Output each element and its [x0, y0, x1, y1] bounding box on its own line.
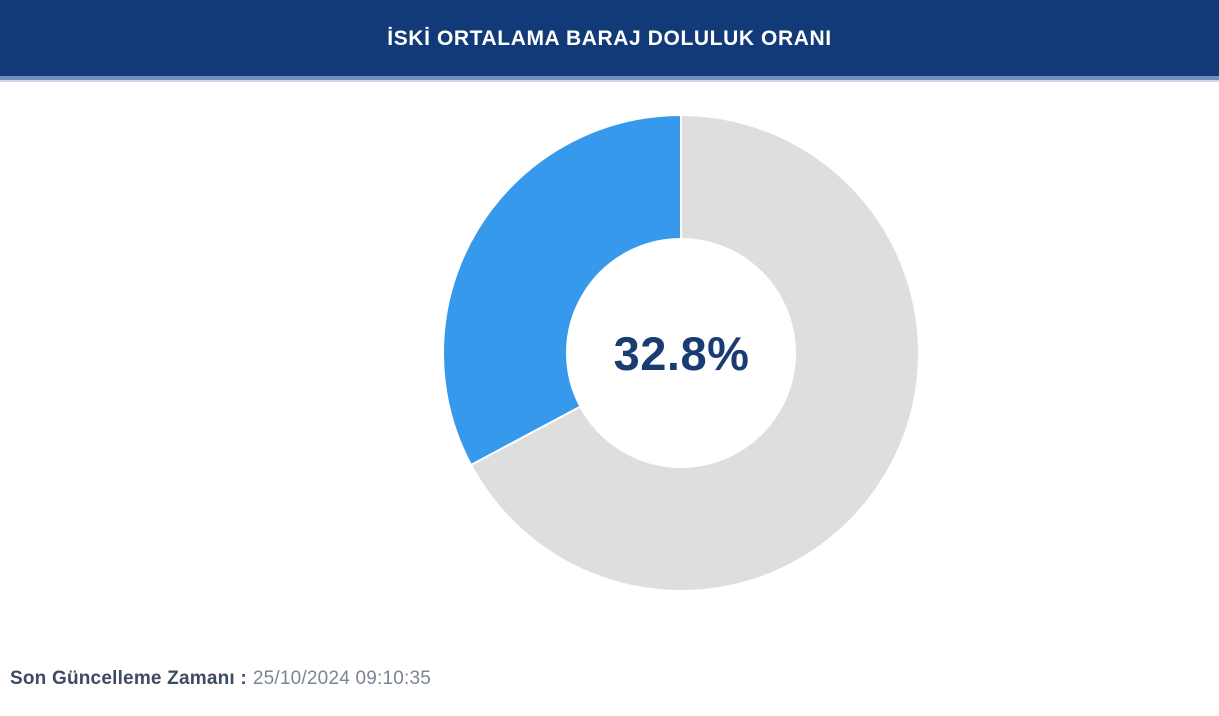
last-update-value: 25/10/2024 09:10:35 — [247, 668, 431, 690]
last-update-status: Son Güncelleme Zamanı : 25/10/2024 09:10… — [10, 668, 431, 690]
chart-area: 32.8% — [0, 82, 1219, 642]
donut-svg — [443, 115, 920, 592]
app-header: İSKİ ORTALAMA BARAJ DOLULUK ORANI — [0, 0, 1219, 76]
last-update-label: Son Güncelleme Zamanı : — [10, 668, 247, 690]
dam-occupancy-donut-chart[interactable]: 32.8% — [443, 115, 920, 592]
donut-slice-group — [443, 115, 919, 591]
donut-slice[interactable] — [443, 115, 681, 465]
page-title: İSKİ ORTALAMA BARAJ DOLULUK ORANI — [387, 28, 831, 49]
